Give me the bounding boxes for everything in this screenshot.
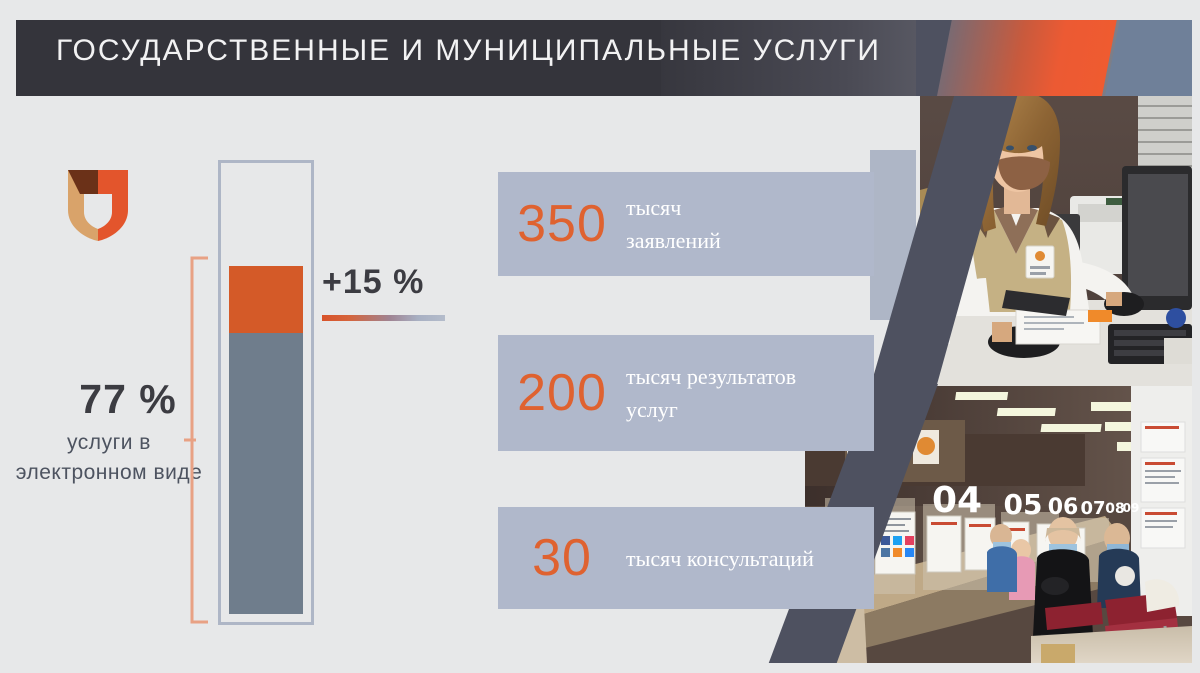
bar-chart-frame — [218, 160, 314, 625]
stat-card-applications[interactable]: 350 тысяч заявлений — [498, 172, 874, 276]
stat-number: 30 — [498, 528, 626, 588]
stat-label-line-1: тысяч — [626, 191, 721, 224]
title-bar: ГОСУДАРСТВЕННЫЕ И МУНИЦИПАЛЬНЫЕ УСЛУГИ — [16, 20, 1192, 96]
growth-value: +15 % — [322, 263, 424, 302]
stat-card-results[interactable]: 200 тысяч результатов услуг — [498, 335, 874, 451]
clerk-at-computer-photo — [920, 86, 1192, 386]
stat-label-line-1: тысяч консультаций — [626, 542, 814, 575]
slide-root: 03 04 05 06 07 08 09 — [0, 0, 1200, 673]
range-bracket — [184, 256, 210, 624]
svg-text:08: 08 — [1105, 501, 1124, 517]
slide-canvas: 03 04 05 06 07 08 09 — [8, 10, 1192, 663]
orange-accent-stripe — [934, 20, 1118, 96]
svg-text:06: 06 — [1048, 495, 1079, 520]
svg-text:05: 05 — [1004, 488, 1043, 521]
bar-segment-base — [229, 333, 303, 614]
growth-underline — [322, 315, 445, 321]
stat-label-line-1: тысяч результатов — [626, 360, 796, 393]
title-accent-stripes — [916, 20, 1192, 96]
stat-label-line-2: услуг — [626, 393, 796, 426]
stat-number: 200 — [498, 363, 626, 423]
blue-accent-stripe — [1102, 20, 1192, 96]
shield-logo — [66, 168, 130, 242]
svg-text:07: 07 — [1080, 498, 1105, 519]
stat-label: тысяч заявлений — [626, 191, 729, 257]
range-bracket-art — [184, 256, 210, 624]
stat-label-line-2: заявлений — [626, 224, 721, 257]
clerk-photo-art — [920, 86, 1192, 386]
bar-chart-track — [229, 171, 303, 614]
stat-label: тысяч результатов услуг — [626, 360, 804, 426]
svg-text:04: 04 — [932, 480, 982, 521]
bar-segment-growth — [229, 266, 303, 333]
blue-slab-accent — [870, 150, 916, 320]
page-title: ГОСУДАРСТВЕННЫЕ И МУНИЦИПАЛЬНЫЕ УСЛУГИ — [56, 34, 881, 68]
svg-text:09: 09 — [1123, 501, 1140, 515]
shield-logo-art — [66, 168, 130, 242]
stat-label: тысяч консультаций — [626, 542, 822, 575]
stat-number: 350 — [498, 194, 626, 254]
stat-card-consultations[interactable]: 30 тысяч консультаций — [498, 507, 874, 609]
diagonal-wedge-top — [870, 86, 1020, 388]
